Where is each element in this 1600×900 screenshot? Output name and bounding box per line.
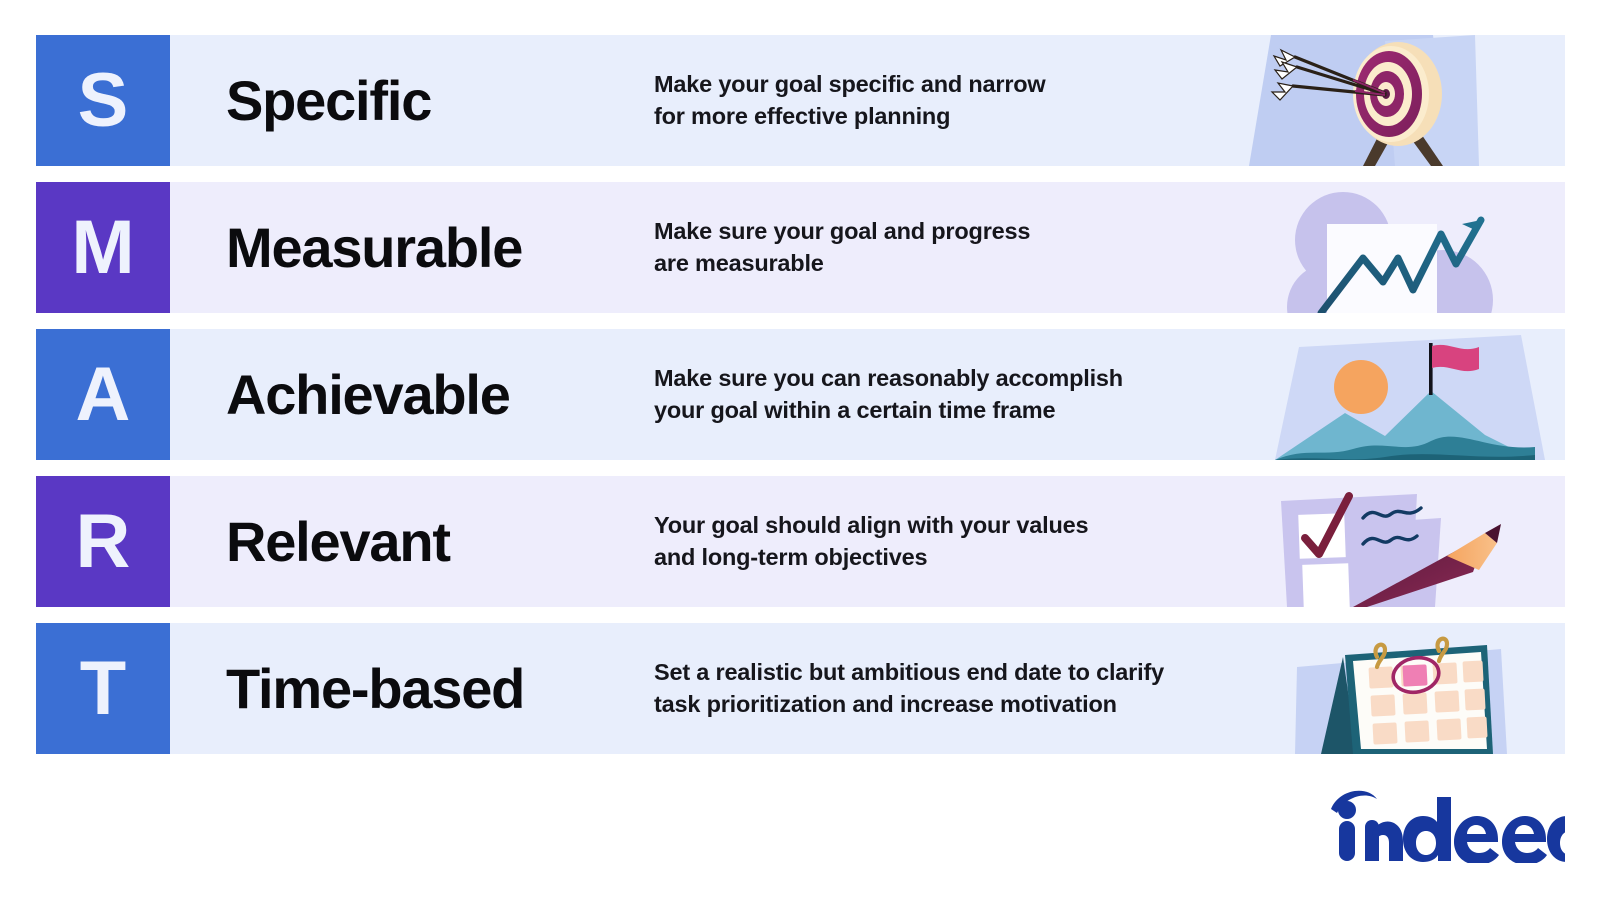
title-cell-time-based: Time-based: [170, 623, 650, 754]
description-cell-measurable: Make sure your goal and progress are mea…: [650, 182, 1565, 313]
row-description-relevant: Your goal should align with your values …: [654, 510, 1088, 574]
title-cell-specific: Specific: [170, 35, 650, 166]
description-cell-specific: Make your goal specific and narrow for m…: [650, 35, 1565, 166]
smart-goals-infographic: S Specific Make your goal specific and n…: [36, 35, 1565, 770]
title-cell-measurable: Measurable: [170, 182, 650, 313]
smart-row-relevant: R Relevant Your goal should align with y…: [36, 476, 1565, 607]
letter-block-r: R: [36, 476, 170, 607]
description-cell-relevant: Your goal should align with your values …: [650, 476, 1565, 607]
row-title-relevant: Relevant: [226, 514, 450, 570]
row-description-time-based: Set a realistic but ambitious end date t…: [654, 657, 1164, 721]
row-title-specific: Specific: [226, 73, 431, 129]
letter-glyph-r: R: [76, 504, 131, 580]
letter-block-m: M: [36, 182, 170, 313]
letter-block-s: S: [36, 35, 170, 166]
indeed-logo: [1325, 783, 1565, 863]
smart-row-achievable: A Achievable Make sure you can reasonabl…: [36, 329, 1565, 460]
smart-row-time-based: T Time-based Set a realistic but ambitio…: [36, 623, 1565, 754]
row-description-specific: Make your goal specific and narrow for m…: [654, 69, 1046, 133]
row-title-achievable: Achievable: [226, 367, 510, 423]
letter-block-t: T: [36, 623, 170, 754]
smart-row-measurable: M Measurable Make sure your goal and pro…: [36, 182, 1565, 313]
letter-glyph-s: S: [78, 63, 129, 139]
letter-block-a: A: [36, 329, 170, 460]
letter-glyph-t: T: [80, 651, 126, 727]
smart-row-specific: S Specific Make your goal specific and n…: [36, 35, 1565, 166]
title-cell-achievable: Achievable: [170, 329, 650, 460]
letter-glyph-m: M: [71, 210, 134, 286]
row-description-achievable: Make sure you can reasonably accomplish …: [654, 363, 1123, 427]
row-description-measurable: Make sure your goal and progress are mea…: [654, 216, 1030, 280]
letter-glyph-a: A: [76, 357, 131, 433]
description-cell-achievable: Make sure you can reasonably accomplish …: [650, 329, 1565, 460]
row-title-measurable: Measurable: [226, 220, 522, 276]
title-cell-relevant: Relevant: [170, 476, 650, 607]
description-cell-time-based: Set a realistic but ambitious end date t…: [650, 623, 1565, 754]
row-title-time-based: Time-based: [226, 661, 524, 717]
